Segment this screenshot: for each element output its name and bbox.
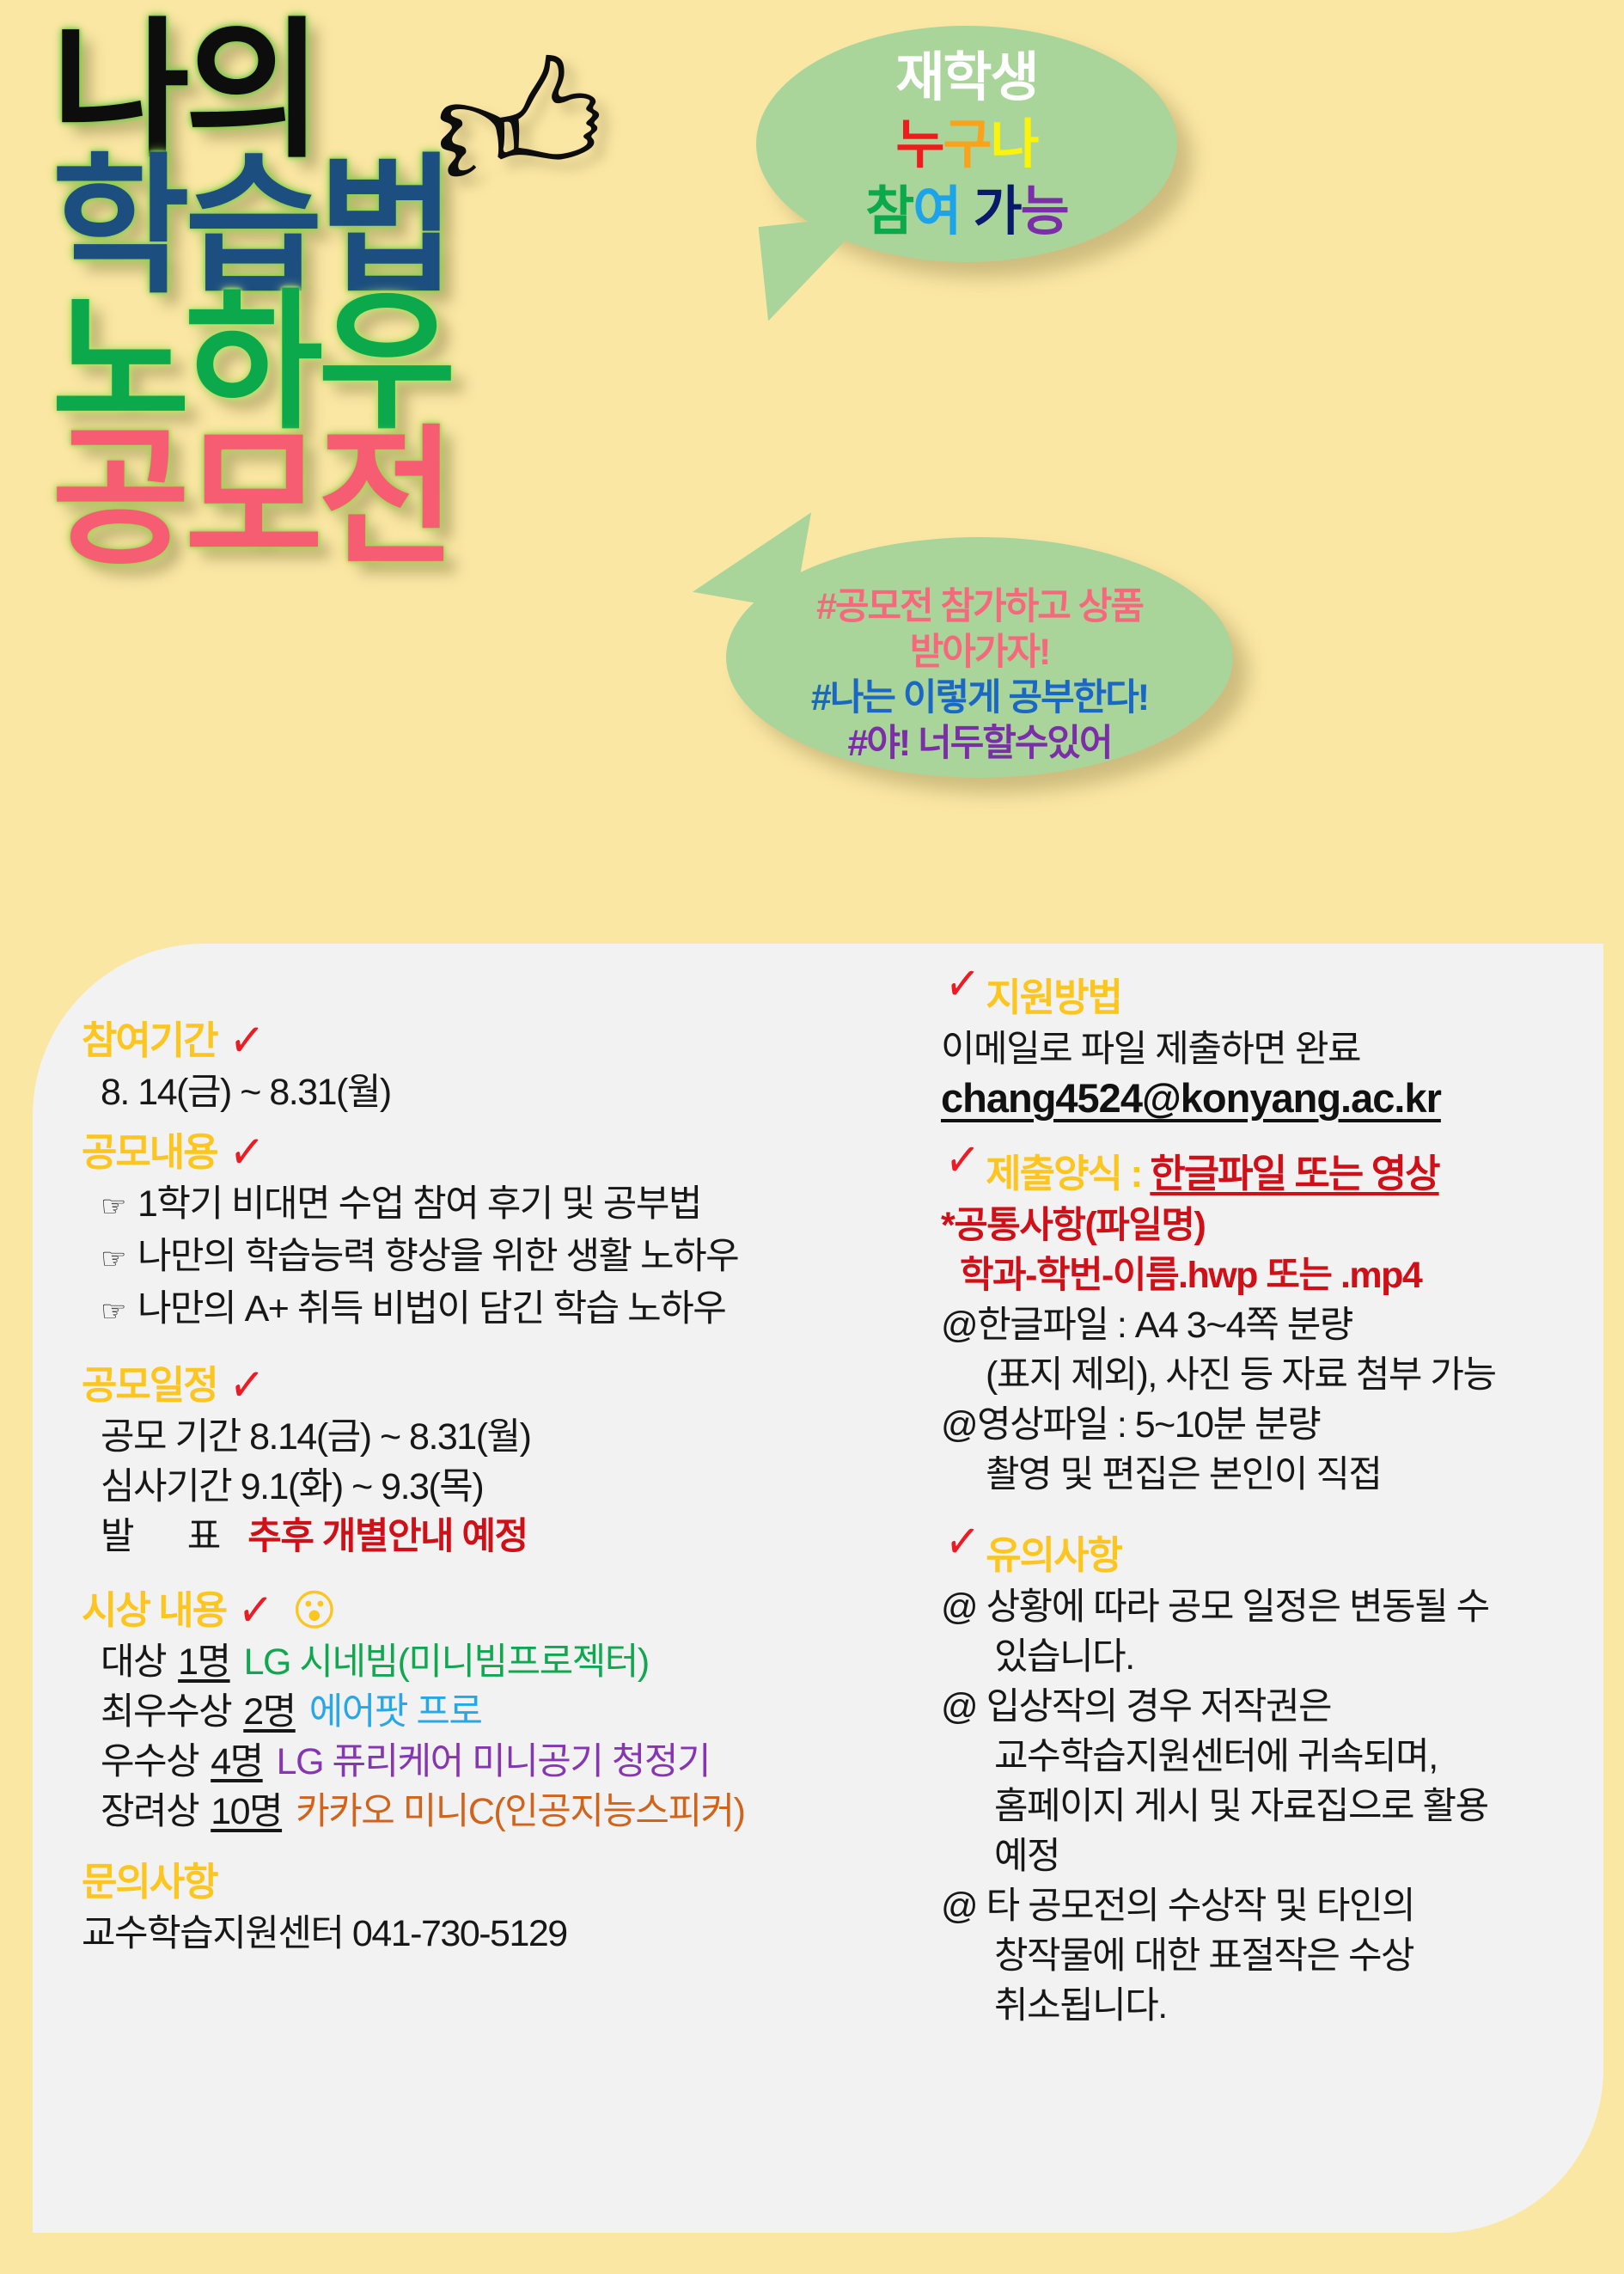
pointing-hand-icon: ☞ xyxy=(101,1295,125,1328)
section-schedule: 공모일정 ✓ 공모 기간 8.14(금) ~ 8.31(월) 심사기간 9.1(… xyxy=(82,1359,941,1562)
list-item: ☞나만의 A+ 취득 비법이 담긴 학습 노하우 xyxy=(101,1284,941,1336)
prizes-heading-row: 시상 내용 ✓ 😮 xyxy=(82,1584,941,1637)
bubble1-line-2: 누구나 xyxy=(756,112,1177,179)
prize-name-2: 우수상 xyxy=(101,1737,198,1787)
notice-1-line-3: 예정 xyxy=(941,1831,1594,1881)
format-heading-label: 제출양식 : xyxy=(986,1147,1141,1201)
title-line-3: 노하우 xyxy=(52,296,739,431)
schedule-heading-row: 공모일정 ✓ xyxy=(82,1359,941,1412)
bubble1-l2-part-1: 구 xyxy=(943,115,990,174)
thumbs-up-icon: 👍︎ xyxy=(424,32,615,217)
bubble1-l2-part-2: 나 xyxy=(991,115,1038,174)
card-corner-cut xyxy=(1433,2063,1605,2234)
period-heading-row: 참여기간 ✓ xyxy=(82,1014,941,1067)
period-heading: 참여기간 xyxy=(82,1014,217,1067)
notice-0-line-0: @ 상황에 따라 공모 일정은 변동될 수 xyxy=(941,1582,1594,1632)
format-heading-row: ✓ 제출양식 : 한글파일 또는 영상 xyxy=(941,1147,1594,1201)
bubble1-line-3: 참여 가능 xyxy=(756,179,1177,246)
apply-heading-row: ✓ 지원방법 xyxy=(941,971,1594,1024)
format-line-6: 촬영 및 편집은 본인이 직접 xyxy=(941,1450,1594,1500)
bubble1-l3-part-4: 능 xyxy=(1021,182,1068,241)
check-icon: ✓ xyxy=(943,1513,980,1570)
bubble2-line-2: #나는 이렇게 공부한다! xyxy=(726,675,1233,721)
check-icon: ✓ xyxy=(227,1013,264,1068)
pointing-hand-icon: ☞ xyxy=(101,1243,125,1275)
bubble2-line-0: #공모전 참가하고 상품 xyxy=(726,584,1233,630)
section-format: ✓ 제출양식 : 한글파일 또는 영상 *공통사항(파일명) 학과-학번-이름.… xyxy=(941,1147,1594,1500)
contents-heading-row: 공모내용 ✓ xyxy=(82,1126,941,1179)
prize-name-0: 대상 xyxy=(101,1637,166,1687)
check-icon: ✓ xyxy=(227,1358,264,1413)
bubble1-l3-part-1: 여 xyxy=(913,182,960,241)
notice-heading: 유의사항 xyxy=(986,1529,1121,1582)
notice-2-line-1: 창작물에 대한 표절작은 수상 xyxy=(941,1931,1594,1981)
title-line-2: 학습법 xyxy=(52,160,739,296)
contents-item-0: 1학기 비대면 수업 참여 후기 및 공부법 xyxy=(137,1183,701,1225)
section-period: 참여기간 ✓ 8. 14(금) ~ 8.31(월) xyxy=(82,1014,941,1117)
prize-name-3: 장려상 xyxy=(101,1787,198,1837)
notice-2-line-0: @ 타 공모전의 수상작 및 타인의 xyxy=(941,1881,1594,1931)
section-notice: ✓ 유의사항 @ 상황에 따라 공모 일정은 변동될 수 있습니다. @ 입상작… xyxy=(941,1529,1594,2031)
apply-email[interactable]: chang4524@konyang.ac.kr xyxy=(941,1074,1594,1122)
schedule-announce-label: 발 표 xyxy=(101,1516,220,1557)
format-line-1: *공통사항(파일명) xyxy=(941,1201,1594,1250)
notice-item: @ 입상작의 경우 저작권은 교수학습지원센터에 귀속되며, 홈페이지 게시 및… xyxy=(941,1682,1594,1881)
prize-count-0: 1명 xyxy=(178,1637,229,1687)
notice-item: @ 타 공모전의 수상작 및 타인의 창작물에 대한 표절작은 수상 취소됩니다… xyxy=(941,1881,1594,2031)
format-line-5: @영상파일 : 5~10분 분량 xyxy=(941,1400,1594,1450)
contents-item-1: 나만의 학습능력 향상을 위한 생활 노하우 xyxy=(137,1236,738,1277)
schedule-announce-value: 추후 개별안내 예정 xyxy=(247,1516,527,1557)
notice-2-line-2: 취소됩니다. xyxy=(941,1981,1594,2031)
check-icon: ✓ xyxy=(227,1125,264,1180)
prize-row: 장려상10명카카오 미니C(인공지능스피커) xyxy=(82,1787,941,1837)
bubble1-l3-part-3: 가 xyxy=(974,182,1021,241)
contents-item-2: 나만의 A+ 취득 비법이 담긴 학습 노하우 xyxy=(137,1288,725,1330)
prize-item-2: LG 퓨리케어 미니공기 청정기 xyxy=(277,1741,710,1782)
format-line-2: 학과-학번-이름.hwp 또는 .mp4 xyxy=(941,1250,1594,1300)
prize-count-3: 10명 xyxy=(211,1787,282,1837)
bubble1-line-1: 재학생 xyxy=(756,45,1177,112)
bubble1-l2-part-0: 누 xyxy=(895,115,943,174)
bubble1-l3-part-0: 참 xyxy=(865,182,913,241)
right-column: ✓ 지원방법 이메일로 파일 제출하면 완료 chang4524@konyang… xyxy=(941,971,1594,2039)
bubble2-line-1: 받아가자! xyxy=(726,630,1233,675)
notice-heading-row: ✓ 유의사항 xyxy=(941,1529,1594,1582)
check-icon: ✓ xyxy=(943,1131,980,1189)
notice-0-line-1: 있습니다. xyxy=(941,1632,1594,1682)
contact-heading: 문의사항 xyxy=(82,1855,941,1909)
list-item: ☞나만의 학습능력 향상을 위한 생활 노하우 xyxy=(101,1232,941,1284)
contact-value: 교수학습지원센터 041-730-5129 xyxy=(82,1909,941,1959)
pointing-hand-icon: ☞ xyxy=(101,1190,125,1223)
bubble-eligibility-text: 재학생 누구나 참여 가능 xyxy=(756,45,1177,246)
format-line-4: (표지 제외), 사진 등 자료 첨부 가능 xyxy=(941,1350,1594,1400)
bubble-hashtags-text: #공모전 참가하고 상품 받아가자! #나는 이렇게 공부한다! #야! 너두할… xyxy=(726,584,1233,767)
prize-row: 우수상4명LG 퓨리케어 미니공기 청정기 xyxy=(82,1737,941,1787)
prize-item-1: 에어팟 프로 xyxy=(309,1691,482,1733)
section-apply: ✓ 지원방법 이메일로 파일 제출하면 완료 chang4524@konyang… xyxy=(941,971,1594,1122)
format-line-3: @한글파일 : A4 3~4쪽 분량 xyxy=(941,1300,1594,1350)
prize-row: 대상1명LG 시네빔(미니빔프로젝터) xyxy=(82,1637,941,1687)
poster-canvas: 나의 학습법 노하우 공모전 👍︎ 재학생 누구나 참여 가능 #공모전 참가하… xyxy=(0,0,1624,2274)
notice-1-line-1: 교수학습지원센터에 귀속되며, xyxy=(941,1732,1594,1782)
section-prizes: 시상 내용 ✓ 😮 대상1명LG 시네빔(미니빔프로젝터) 최우수상2명에어팟 … xyxy=(82,1584,941,1837)
title-line-1: 나의 xyxy=(52,24,739,160)
schedule-line-1: 공모 기간 8.14(금) ~ 8.31(월) xyxy=(82,1412,941,1462)
prizes-heading: 시상 내용 xyxy=(82,1584,226,1637)
contents-heading: 공모내용 xyxy=(82,1126,217,1179)
check-icon: ✓ xyxy=(943,955,980,1012)
section-contact: 문의사항 교수학습지원센터 041-730-5129 xyxy=(82,1855,941,1959)
apply-heading: 지원방법 xyxy=(986,971,1121,1024)
bubble1-l3-space xyxy=(960,182,973,241)
title-line-4: 공모전 xyxy=(52,431,739,567)
list-item: ☞1학기 비대면 수업 참여 후기 및 공부법 xyxy=(101,1179,941,1232)
format-heading-value: 한글파일 또는 영상 xyxy=(1150,1147,1438,1201)
left-column: 참여기간 ✓ 8. 14(금) ~ 8.31(월) 공모내용 ✓ ☞1학기 비대… xyxy=(82,1014,941,1967)
schedule-line-2: 심사기간 9.1(화) ~ 9.3(목) xyxy=(82,1462,941,1512)
notice-item: @ 상황에 따라 공모 일정은 변동될 수 있습니다. xyxy=(941,1582,1594,1682)
contents-list: ☞1학기 비대면 수업 참여 후기 및 공부법 ☞나만의 학습능력 향상을 위한… xyxy=(82,1179,941,1336)
schedule-heading: 공모일정 xyxy=(82,1359,217,1412)
schedule-announce-row: 발 표 추후 개별안내 예정 xyxy=(82,1512,941,1562)
prize-count-1: 2명 xyxy=(243,1687,295,1737)
notice-1-line-0: @ 입상작의 경우 저작권은 xyxy=(941,1682,1594,1732)
prize-count-2: 4명 xyxy=(211,1737,262,1787)
prize-row: 최우수상2명에어팟 프로 xyxy=(82,1687,941,1737)
bubble2-line-3: #야! 너두할수있어 xyxy=(726,721,1233,767)
astonished-face-icon: 😮 xyxy=(292,1589,335,1632)
check-icon: ✓ xyxy=(236,1583,273,1638)
notice-1-line-2: 홈페이지 게시 및 자료집으로 활용 xyxy=(941,1782,1594,1831)
apply-line-1: 이메일로 파일 제출하면 완료 xyxy=(941,1024,1594,1074)
period-value: 8. 14(금) ~ 8.31(월) xyxy=(82,1067,941,1117)
poster-title: 나의 학습법 노하우 공모전 xyxy=(52,24,739,567)
prize-name-1: 최우수상 xyxy=(101,1687,231,1737)
prize-item-0: LG 시네빔(미니빔프로젝터) xyxy=(244,1641,649,1683)
section-contents: 공모내용 ✓ ☞1학기 비대면 수업 참여 후기 및 공부법 ☞나만의 학습능력… xyxy=(82,1126,941,1336)
prize-item-3: 카카오 미니C(인공지능스피커) xyxy=(296,1791,744,1832)
